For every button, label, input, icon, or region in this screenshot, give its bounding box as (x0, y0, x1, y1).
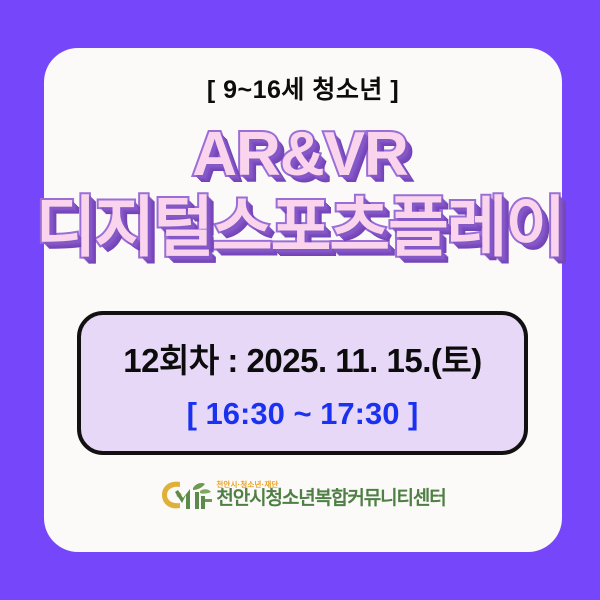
schedule-box: 12회차 : 2025. 11. 15.(토) [ 16:30 ~ 17:30 … (77, 311, 528, 455)
footer-logo: 천안시·청소년·재단 천안시청소년복합커뮤니티센터 (44, 478, 562, 512)
logo-text-group: 천안시·청소년·재단 천안시청소년복합커뮤니티센터 (216, 481, 445, 509)
poster-card: [ 9~16세 청소년 ] AR&VR 디지털스포츠플레이 12회차 : 202… (44, 48, 562, 552)
title-line-primary: AR&VR (0, 124, 600, 186)
schedule-time-label: [ 16:30 ~ 17:30 ] (187, 396, 419, 432)
logo-organization-name: 천안시청소년복합커뮤니티센터 (216, 489, 445, 509)
schedule-date-label: 12회차 : 2025. 11. 15.(토) (123, 334, 481, 382)
poster-title: AR&VR 디지털스포츠플레이 (0, 124, 600, 260)
title-line-secondary: 디지털스포츠플레이 (0, 194, 600, 260)
target-age-label: [ 9~16세 청소년 ] (44, 70, 562, 106)
cheonan-youth-foundation-logo-icon (160, 478, 212, 512)
poster-root: [ 9~16세 청소년 ] AR&VR 디지털스포츠플레이 12회차 : 202… (0, 0, 600, 600)
